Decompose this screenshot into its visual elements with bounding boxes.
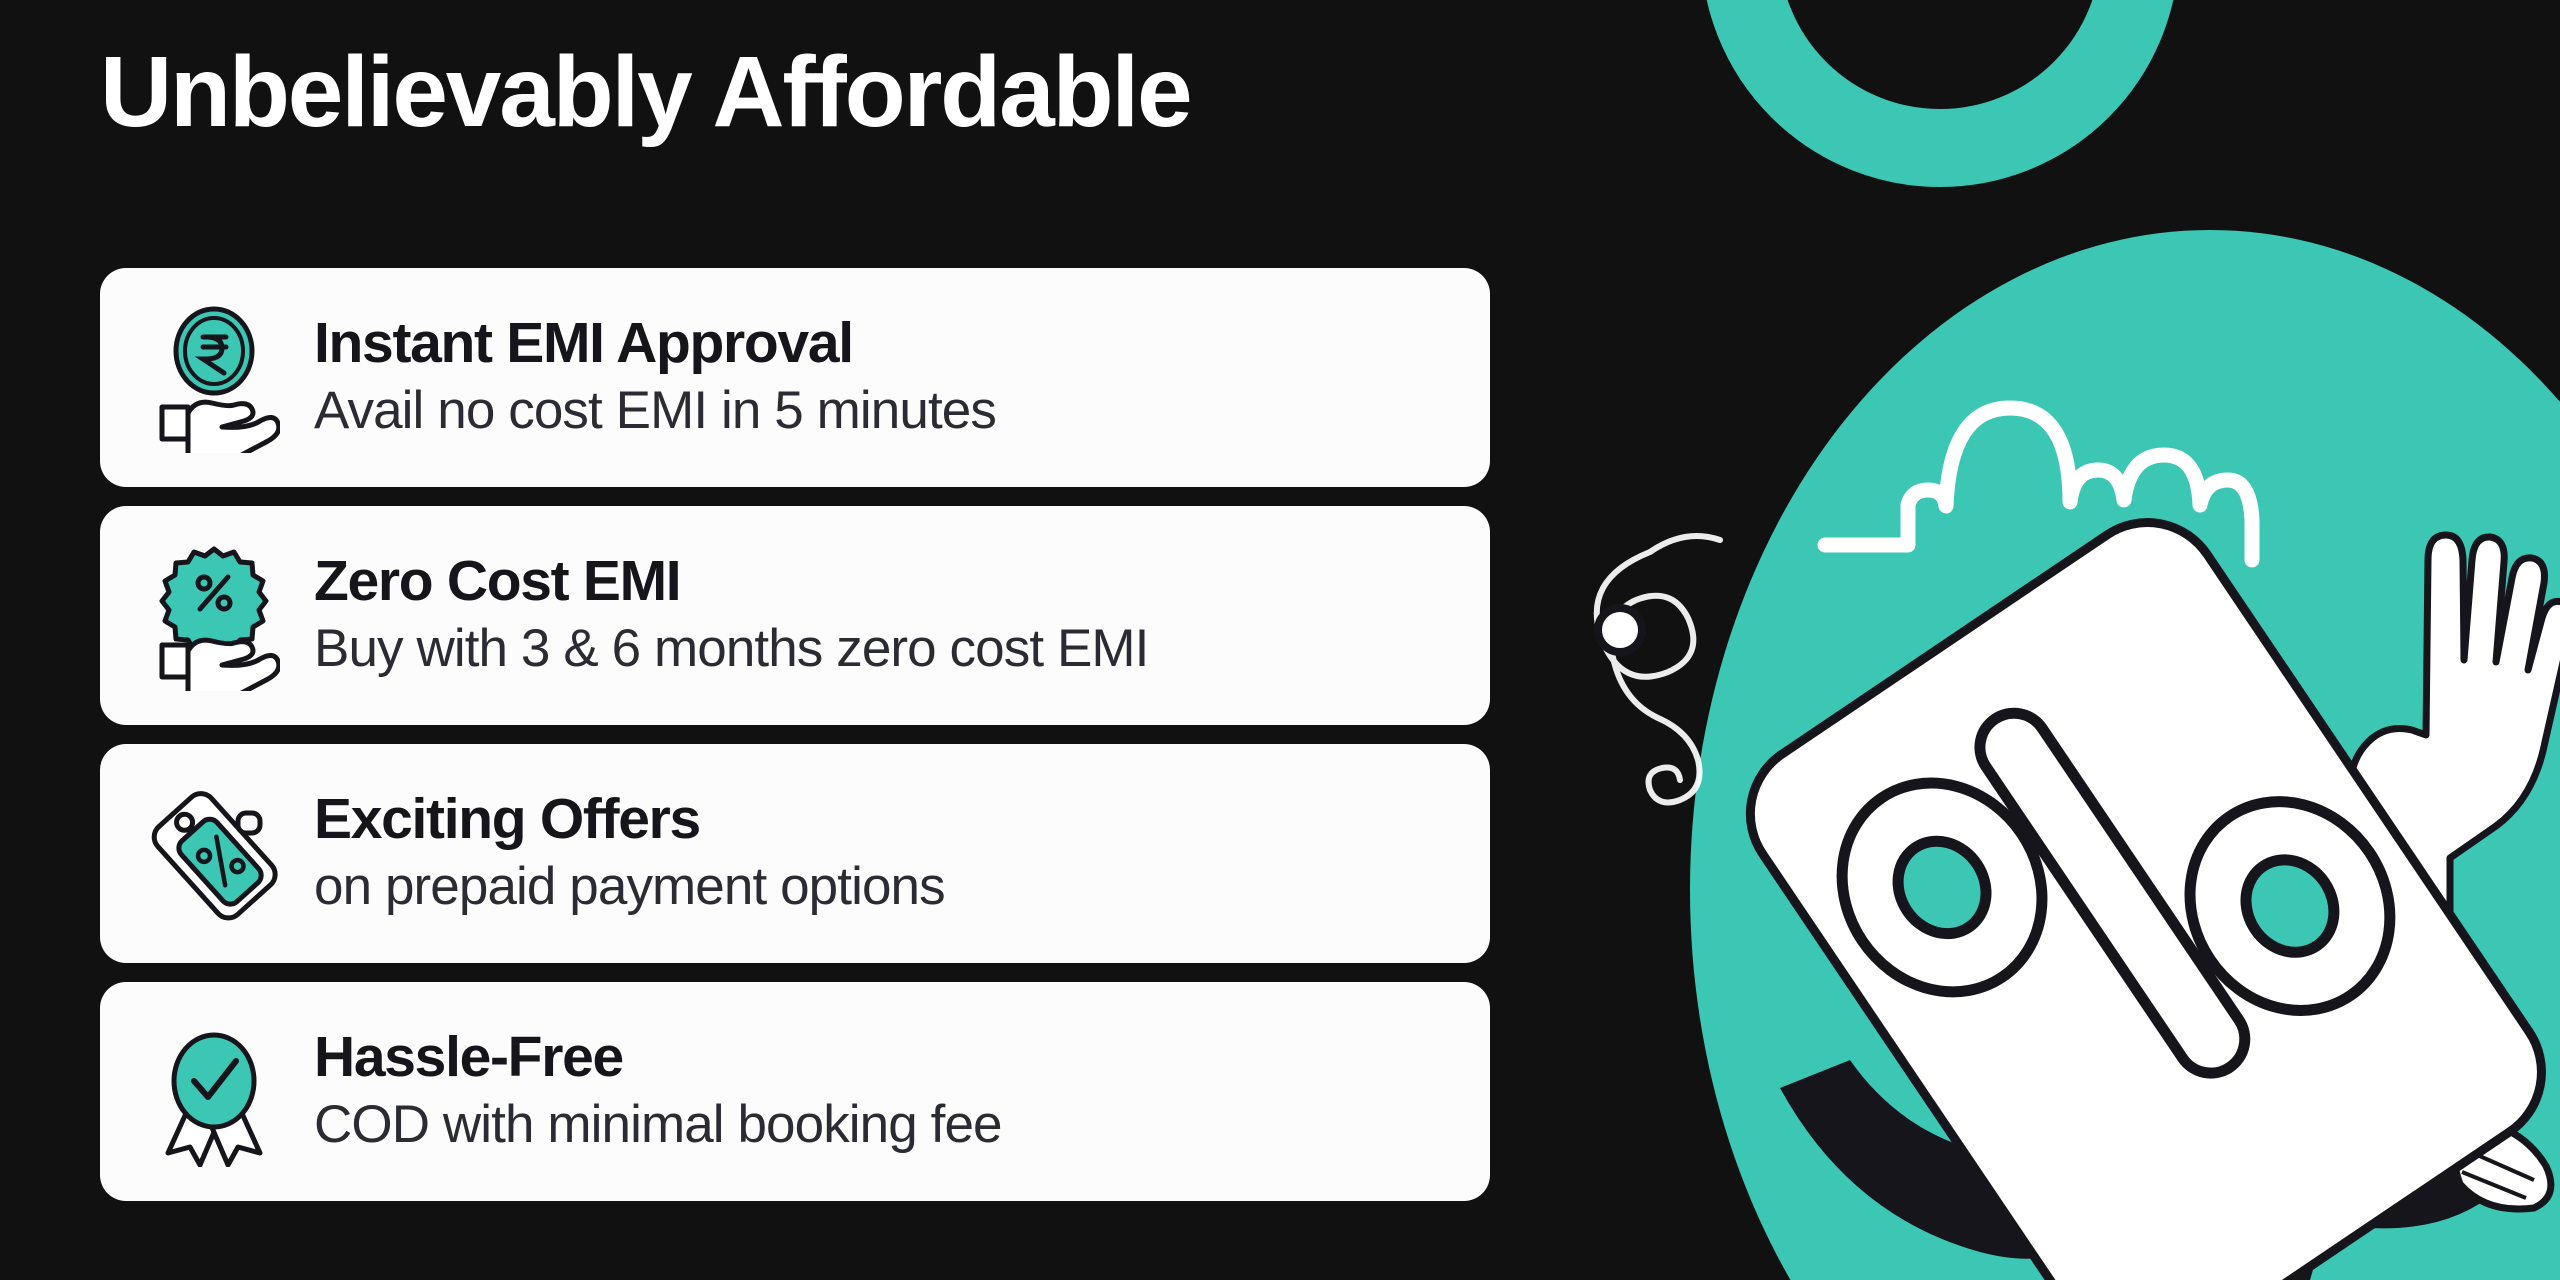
percent-badge-on-hand-icon: [148, 541, 280, 691]
feature-list: Instant EMI Approval Avail no cost EMI i…: [100, 268, 1490, 1201]
feature-title: Hassle-Free: [314, 1026, 1002, 1090]
feature-card-zero-cost-emi[interactable]: Zero Cost EMI Buy with 3 & 6 months zero…: [100, 506, 1490, 725]
teal-ring-icon: [1740, 0, 2140, 148]
feature-subtitle: on prepaid payment options: [314, 856, 945, 919]
feature-title: Exciting Offers: [314, 788, 945, 852]
percent-price-tag-icon: [148, 779, 280, 929]
white-spiral-squiggle-icon: [1597, 536, 1720, 802]
woman-with-giant-percent-sign-illustration: [1550, 0, 2560, 1280]
feature-card-exciting-offers[interactable]: Exciting Offers on prepaid payment optio…: [100, 744, 1490, 963]
feature-title: Instant EMI Approval: [314, 312, 996, 376]
promo-banner: Unbelievably Affordable: [0, 0, 2560, 1280]
feature-subtitle: COD with minimal booking fee: [314, 1094, 1002, 1157]
feature-card-hassle-free[interactable]: Hassle-Free COD with minimal booking fee: [100, 982, 1490, 1201]
rupee-coin-on-hand-icon: [148, 303, 280, 453]
feature-subtitle: Avail no cost EMI in 5 minutes: [314, 380, 996, 443]
feature-subtitle: Buy with 3 & 6 months zero cost EMI: [314, 618, 1149, 681]
page-title: Unbelievably Affordable: [100, 38, 1520, 146]
starburst-badge: [162, 549, 266, 653]
feature-card-instant-emi-approval[interactable]: Instant EMI Approval Avail no cost EMI i…: [100, 268, 1490, 487]
feature-title: Zero Cost EMI: [314, 550, 1149, 614]
check-rosette-icon: [148, 1017, 280, 1167]
